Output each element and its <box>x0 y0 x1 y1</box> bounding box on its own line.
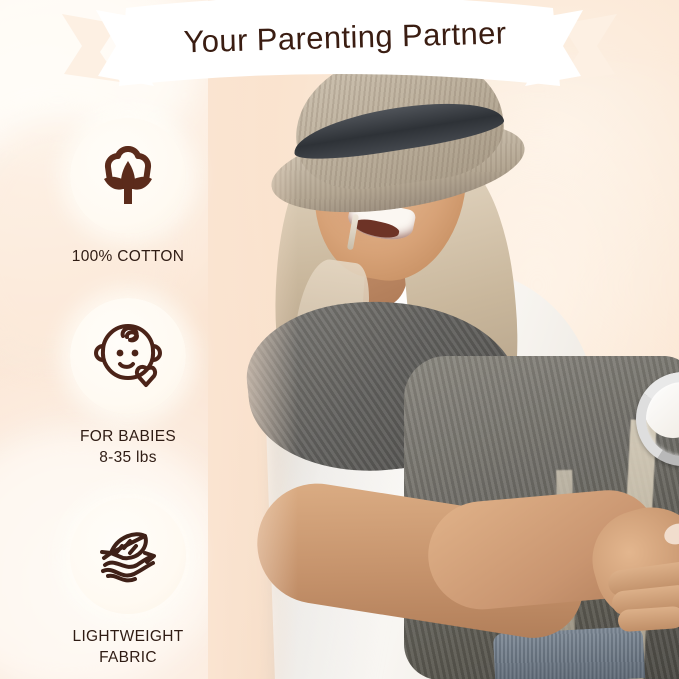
feature-babies-label-line1: FOR BABIES <box>80 428 176 445</box>
feature-babies: FOR BABIES 8-35 lbs <box>34 298 222 468</box>
feature-cotton-label-line1: 100% COTTON <box>72 248 184 265</box>
feature-lightweight: LIGHTWEIGHT FABRIC <box>34 498 222 668</box>
baby-face-icon <box>90 321 166 391</box>
feature-cotton: 100% COTTON <box>34 118 222 267</box>
feature-lightweight-label: LIGHTWEIGHT FABRIC <box>34 626 222 668</box>
feature-cotton-label: 100% COTTON <box>34 246 222 267</box>
feature-lightweight-label-line2: FABRIC <box>34 647 222 668</box>
feature-lightweight-badge <box>70 498 186 614</box>
infographic-root: Your Parenting Partner 100% COTTON <box>0 0 679 679</box>
feature-cotton-badge <box>70 118 186 234</box>
feature-lightweight-label-line1: LIGHTWEIGHT <box>73 628 184 645</box>
cotton-boll-icon <box>91 139 165 213</box>
feather-fabric-icon <box>89 524 167 588</box>
banner: Your Parenting Partner <box>0 0 679 112</box>
woman-finger <box>617 606 679 633</box>
feature-babies-label-line2: 8-35 lbs <box>34 447 222 468</box>
feature-babies-label: FOR BABIES 8-35 lbs <box>34 426 222 468</box>
feature-babies-badge <box>70 298 186 414</box>
